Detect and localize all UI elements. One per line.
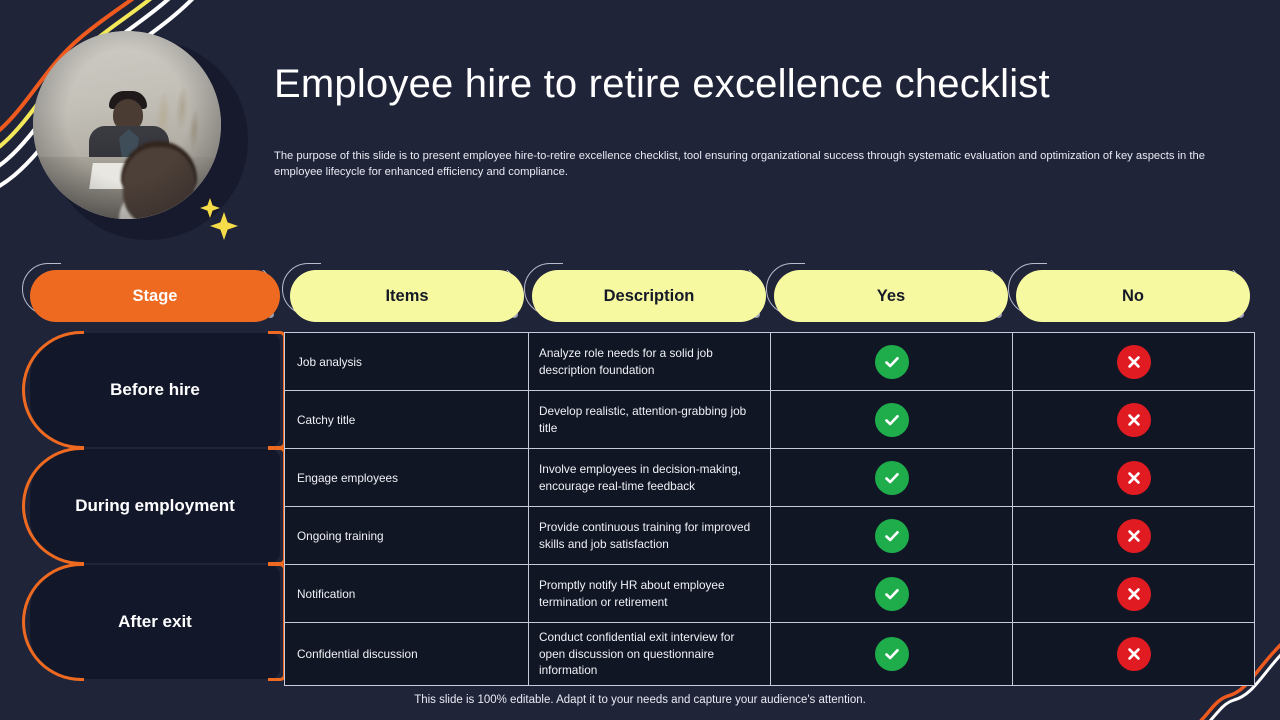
table-header-row: Stage Items Description Yes No (0, 264, 1280, 330)
cross-icon (1117, 461, 1151, 495)
cell-item: Job analysis (285, 333, 529, 391)
table-row[interactable]: Job analysis Analyze role needs for a so… (285, 333, 1255, 391)
cell-description: Involve employees in decision-making, en… (529, 449, 771, 507)
cell-no[interactable] (1013, 449, 1255, 507)
header-label-stage[interactable]: Stage (30, 270, 280, 322)
stage-arc-icon (22, 331, 84, 449)
cell-yes[interactable] (771, 333, 1013, 391)
cross-icon (1117, 519, 1151, 553)
cell-description: Develop realistic, attention-grabbing jo… (529, 391, 771, 449)
cell-no[interactable] (1013, 507, 1255, 565)
cell-yes[interactable] (771, 449, 1013, 507)
stage-block-after-exit[interactable]: After exit (30, 565, 280, 679)
cell-item: Catchy title (285, 391, 529, 449)
footer-note: This slide is 100% editable. Adapt it to… (0, 694, 1280, 706)
photo-vignette (33, 31, 221, 219)
cell-yes[interactable] (771, 507, 1013, 565)
interview-photo (33, 31, 221, 219)
stage-label: During employment (49, 496, 261, 516)
cell-description: Provide continuous training for improved… (529, 507, 771, 565)
cross-icon (1117, 637, 1151, 671)
check-icon (875, 577, 909, 611)
table-row[interactable]: Ongoing training Provide continuous trai… (285, 507, 1255, 565)
table-row[interactable]: Engage employees Involve employees in de… (285, 449, 1255, 507)
header-cell-items[interactable]: Items (290, 270, 524, 322)
checklist-table: Job analysis Analyze role needs for a so… (284, 332, 1255, 686)
check-icon (875, 637, 909, 671)
header-cell-yes[interactable]: Yes (774, 270, 1008, 322)
cell-description: Analyze role needs for a solid job descr… (529, 333, 771, 391)
header-label-no[interactable]: No (1016, 270, 1250, 322)
header-label-items[interactable]: Items (290, 270, 524, 322)
check-icon (875, 403, 909, 437)
cross-icon (1117, 403, 1151, 437)
cross-icon (1117, 577, 1151, 611)
page-subtitle: The purpose of this slide is to present … (274, 148, 1256, 180)
header-cell-no[interactable]: No (1016, 270, 1250, 322)
cell-item: Confidential discussion (285, 623, 529, 686)
header-label-description[interactable]: Description (532, 270, 766, 322)
cell-item: Engage employees (285, 449, 529, 507)
table-row[interactable]: Notification Promptly notify HR about em… (285, 565, 1255, 623)
cell-yes[interactable] (771, 391, 1013, 449)
table-row[interactable]: Confidential discussion Conduct confiden… (285, 623, 1255, 686)
header-cell-description[interactable]: Description (532, 270, 766, 322)
table-row[interactable]: Catchy title Develop realistic, attentio… (285, 391, 1255, 449)
cell-item: Notification (285, 565, 529, 623)
stage-label: After exit (92, 612, 218, 632)
header-cell-stage[interactable]: Stage (30, 270, 280, 322)
cell-yes[interactable] (771, 623, 1013, 686)
cell-no[interactable] (1013, 333, 1255, 391)
check-icon (875, 345, 909, 379)
cross-icon (1117, 345, 1151, 379)
check-icon (875, 461, 909, 495)
stage-arc-icon (22, 563, 84, 681)
cell-description: Conduct confidential exit interview for … (529, 623, 771, 686)
cell-no[interactable] (1013, 623, 1255, 686)
stage-block-during-employment[interactable]: During employment (30, 449, 280, 563)
cell-item: Ongoing training (285, 507, 529, 565)
cell-yes[interactable] (771, 565, 1013, 623)
cell-no[interactable] (1013, 391, 1255, 449)
page-title: Employee hire to retire excellence check… (274, 62, 1050, 107)
cell-description: Promptly notify HR about employee termin… (529, 565, 771, 623)
check-icon (875, 519, 909, 553)
header-label-yes[interactable]: Yes (774, 270, 1008, 322)
stage-label: Before hire (84, 380, 226, 400)
stage-block-before-hire[interactable]: Before hire (30, 333, 280, 447)
cell-no[interactable] (1013, 565, 1255, 623)
